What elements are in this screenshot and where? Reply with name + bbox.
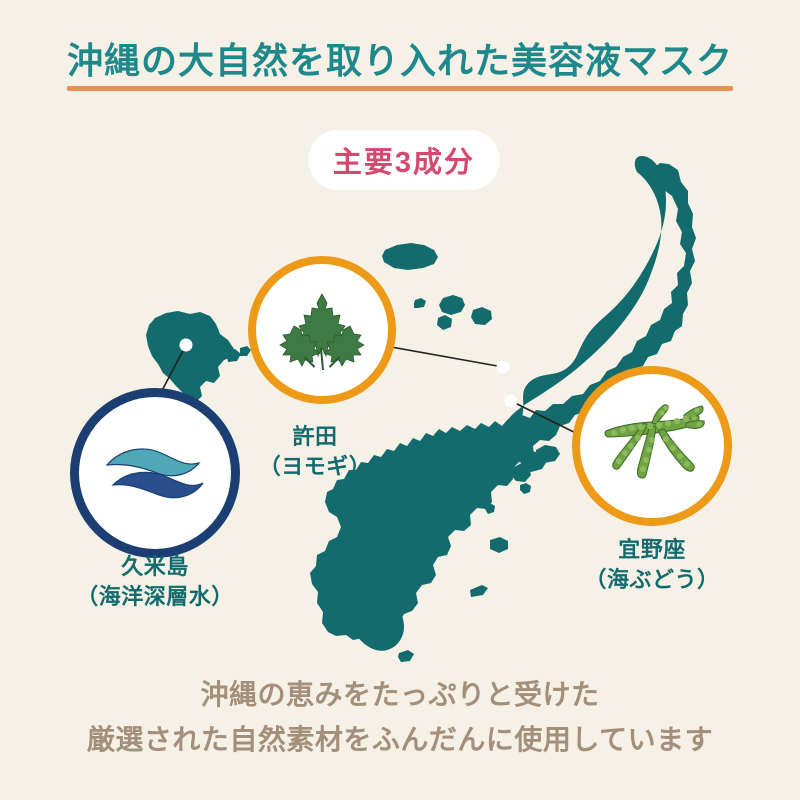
callout-ginoza[interactable] [572, 366, 732, 526]
label-kumejima-line1: 久米島 [55, 552, 255, 582]
marker-kyoda[interactable] [497, 361, 510, 374]
marker-kumejima[interactable] [180, 339, 193, 352]
page-title: 沖縄の大自然を取り入れた美容液マスク [0, 38, 800, 89]
main-ingredients-badge-label: 主要3成分 [333, 139, 475, 181]
footer-line2: 厳選された自然素材をふんだんに使用しています [0, 717, 800, 762]
label-ginoza-line2: （海ぶどう） [552, 565, 752, 595]
footer-caption: 沖縄の恵みをたっぷりと受けた 厳選された自然素材をふんだんに使用しています [0, 672, 800, 763]
islet-small-2 [437, 315, 452, 330]
label-kumejima-line2: （海洋深層水） [55, 582, 255, 612]
aguni-island [382, 243, 438, 270]
infographic-canvas: 沖縄の大自然を取り入れた美容液マスク 主要3成分 [0, 0, 800, 800]
title-underline [67, 86, 733, 91]
label-kyoda-line1: 許田 [215, 422, 415, 452]
label-kyoda: 許田 （ヨモギ） [215, 422, 415, 483]
label-kumejima: 久米島 （海洋深層水） [55, 552, 255, 613]
islet-south-3 [398, 650, 414, 662]
footer-line1: 沖縄の恵みをたっぷりと受けた [0, 672, 800, 717]
mugwort-leaf-icon [270, 278, 374, 382]
marker-ginoza[interactable] [505, 395, 518, 408]
iejima-island [439, 295, 465, 315]
sea-grape-icon [592, 391, 712, 501]
islet-east-2 [485, 503, 495, 514]
kudaka-island [490, 537, 508, 553]
islet-south-1 [470, 585, 488, 597]
callout-kyoda[interactable] [248, 256, 396, 404]
label-ginoza: 宜野座 （海ぶどう） [552, 535, 752, 596]
islet-small-3 [471, 307, 492, 325]
connector-kyoda [380, 345, 503, 367]
ocean-waves-icon [95, 413, 215, 533]
label-kyoda-line2: （ヨモギ） [215, 452, 415, 482]
page-title-text: 沖縄の大自然を取り入れた美容液マスク [67, 40, 733, 81]
main-ingredients-badge: 主要3成分 [308, 130, 500, 190]
islet-east-1 [520, 483, 531, 494]
label-ginoza-line1: 宜野座 [552, 535, 752, 565]
